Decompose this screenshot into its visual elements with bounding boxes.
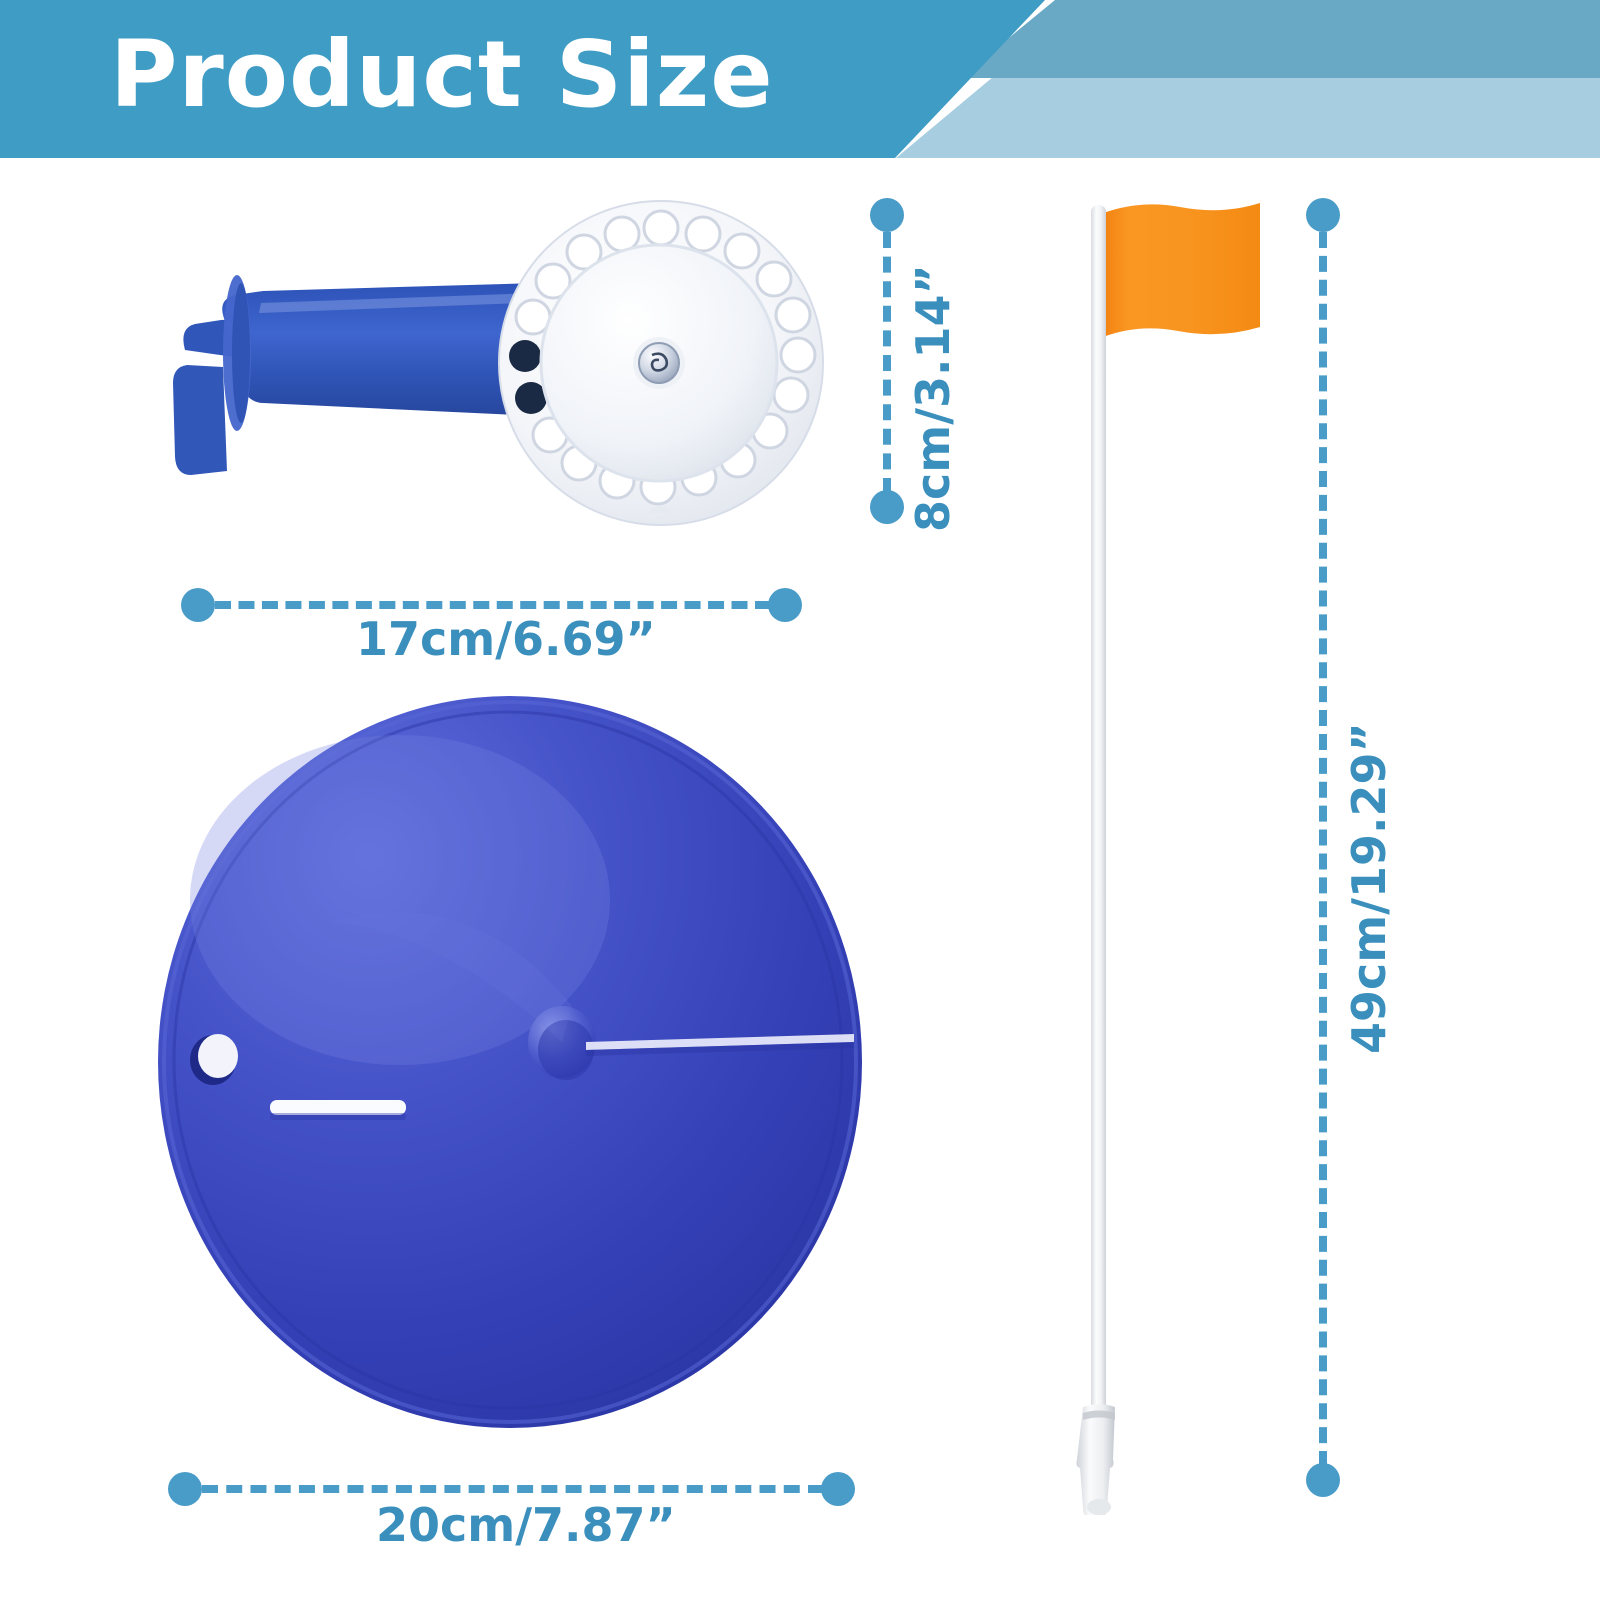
dimension-label-reel-height: 8cm/3.14” (906, 264, 960, 532)
dimension-label-disc-diameter: 20cm/7.87” (376, 1498, 676, 1552)
disc-center-boss-shadow (538, 1020, 594, 1080)
dim-endpoint-dot-left (168, 1472, 202, 1506)
reel-hole (686, 217, 720, 251)
pole-end-cap-tip (1087, 1499, 1111, 1515)
disc-rect-slot-shadow (270, 1113, 406, 1120)
dim-endpoint-dot-top (1306, 198, 1340, 232)
infographic-canvas: Product Size (0, 0, 1600, 1600)
reel-hole (774, 378, 808, 412)
flag-pole (1091, 205, 1106, 1433)
dim-endpoint-dot-right (768, 588, 802, 622)
flag-rod-illustration (1050, 185, 1310, 1515)
reel-hole (725, 234, 759, 268)
dim-dashed-line (883, 232, 891, 494)
reel-hole-dark (509, 340, 541, 372)
page-title: Product Size (110, 20, 774, 130)
disc-rect-slot (270, 1100, 406, 1115)
dim-dashed-line (215, 601, 771, 609)
reel-assembly-illustration (165, 195, 865, 545)
dim-endpoint-dot-bottom (870, 490, 904, 524)
reel-hole (644, 211, 678, 245)
dimension-label-flag-length: 49cm/19.29” (1342, 722, 1396, 1054)
arm-mount-plate (173, 365, 227, 475)
dimension-label-reel-width: 17cm/6.69” (356, 612, 656, 666)
dim-dashed-line (202, 1485, 824, 1493)
dim-endpoint-dot-left (181, 588, 215, 622)
dim-endpoint-dot-bottom (1306, 1463, 1340, 1497)
disc-edge-hole (198, 1034, 238, 1078)
header-band-mid (960, 0, 1600, 78)
dim-dashed-line (1319, 232, 1327, 1467)
dim-endpoint-dot-top (870, 198, 904, 232)
orange-flag (1098, 203, 1260, 339)
reel-hole (781, 338, 815, 372)
blue-disc-illustration (150, 690, 870, 1430)
pole-end-ferrule (1076, 1404, 1115, 1515)
reel-hole (776, 298, 810, 332)
reel-hole (605, 217, 639, 251)
dim-endpoint-dot-right (821, 1472, 855, 1506)
header-banner: Product Size (0, 0, 1600, 160)
reel-hole (757, 262, 791, 296)
arm-open-end-inner (232, 283, 250, 423)
